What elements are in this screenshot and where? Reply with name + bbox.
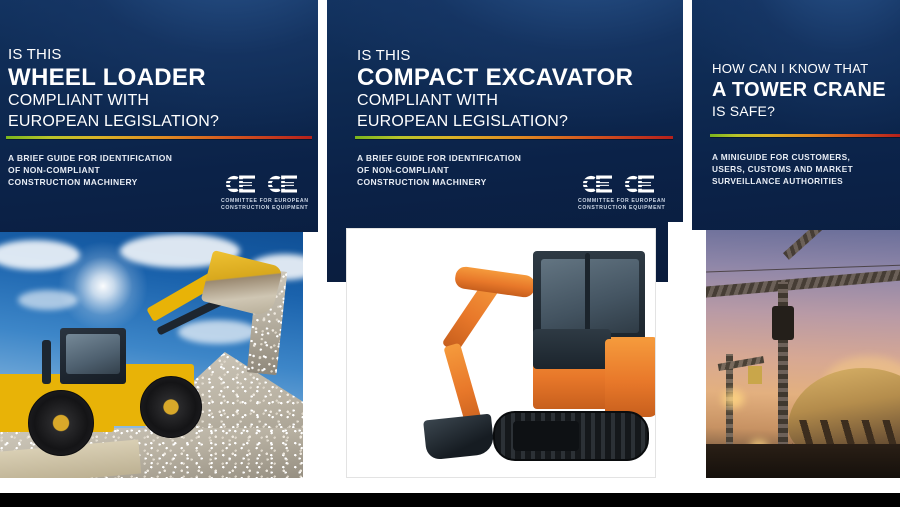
cover-subline-2: EUROPEAN LEGISLATION? (357, 113, 568, 131)
excavator-counterweight (605, 339, 656, 417)
loader-rear-tire (28, 390, 94, 456)
cover-subline-1: COMPLIANT WITH (8, 92, 149, 110)
photo-wheel-loader (0, 232, 303, 478)
cover-compact-excavator[interactable]: IS THIS COMPACT EXCAVATOR COMPLIANT WITH… (327, 0, 683, 493)
cover-title: WHEEL LOADER (8, 64, 206, 92)
bottom-black-bar (0, 493, 900, 507)
cece-logo[interactable]: COMMITTEE FOR EUROPEAN CONSTRUCTION EQUI… (578, 173, 666, 212)
cover-kicker: IS THIS (357, 47, 411, 64)
cover-description: A MINIGUIDE FOR CUSTOMERS, USERS, CUSTOM… (712, 152, 853, 187)
cover-wheel-loader[interactable]: IS THIS WHEEL LOADER COMPLIANT WITH EURO… (0, 0, 318, 493)
crane-operator-cab (772, 306, 794, 340)
cover-subline-1: IS SAFE? (712, 103, 775, 119)
cover-title: COMPACT EXCAVATOR (357, 64, 633, 92)
cover-description: A BRIEF GUIDE FOR IDENTIFICATION OF NON-… (8, 152, 172, 188)
accent-rule (6, 136, 312, 139)
accent-rule (710, 134, 900, 137)
excavator-track-frame (513, 421, 579, 451)
cece-logo-caption: COMMITTEE FOR EUROPEAN CONSTRUCTION EQUI… (221, 198, 309, 212)
cece-logo[interactable]: COMMITTEE FOR EUROPEAN CONSTRUCTION EQUI… (221, 173, 309, 212)
loader-exhaust (42, 340, 51, 384)
accent-rule (355, 136, 673, 139)
crane-counterweight-secondary (748, 366, 762, 384)
cover-kicker: IS THIS (8, 46, 62, 63)
cover-description: A BRIEF GUIDE FOR IDENTIFICATION OF NON-… (357, 152, 521, 188)
loader-cab-glass (66, 334, 120, 374)
cece-logo-mark (221, 173, 305, 195)
cece-logo-caption: COMMITTEE FOR EUROPEAN CONSTRUCTION EQUI… (578, 198, 666, 212)
excavator-engine-cover (533, 329, 611, 369)
cover-subline-1: COMPLIANT WITH (357, 92, 498, 110)
cece-logo-mark (578, 173, 662, 195)
photo-compact-excavator (346, 228, 656, 478)
brochure-covers-collage: IS THIS WHEEL LOADER COMPLIANT WITH EURO… (0, 0, 900, 507)
site-ground (706, 444, 900, 478)
cloud (18, 290, 78, 310)
cloud (178, 320, 258, 344)
cover-kicker: HOW CAN I KNOW THAT (712, 61, 868, 76)
cover-tower-crane[interactable]: HOW CAN I KNOW THAT A TOWER CRANE IS SAF… (692, 0, 900, 493)
excavator-cab-window (541, 259, 639, 333)
loader-front-tire (140, 376, 202, 438)
cover-subline-2: EUROPEAN LEGISLATION? (8, 113, 219, 131)
site-light (722, 390, 744, 408)
photo-tower-crane (706, 230, 900, 478)
cover-title: A TOWER CRANE (712, 79, 886, 102)
